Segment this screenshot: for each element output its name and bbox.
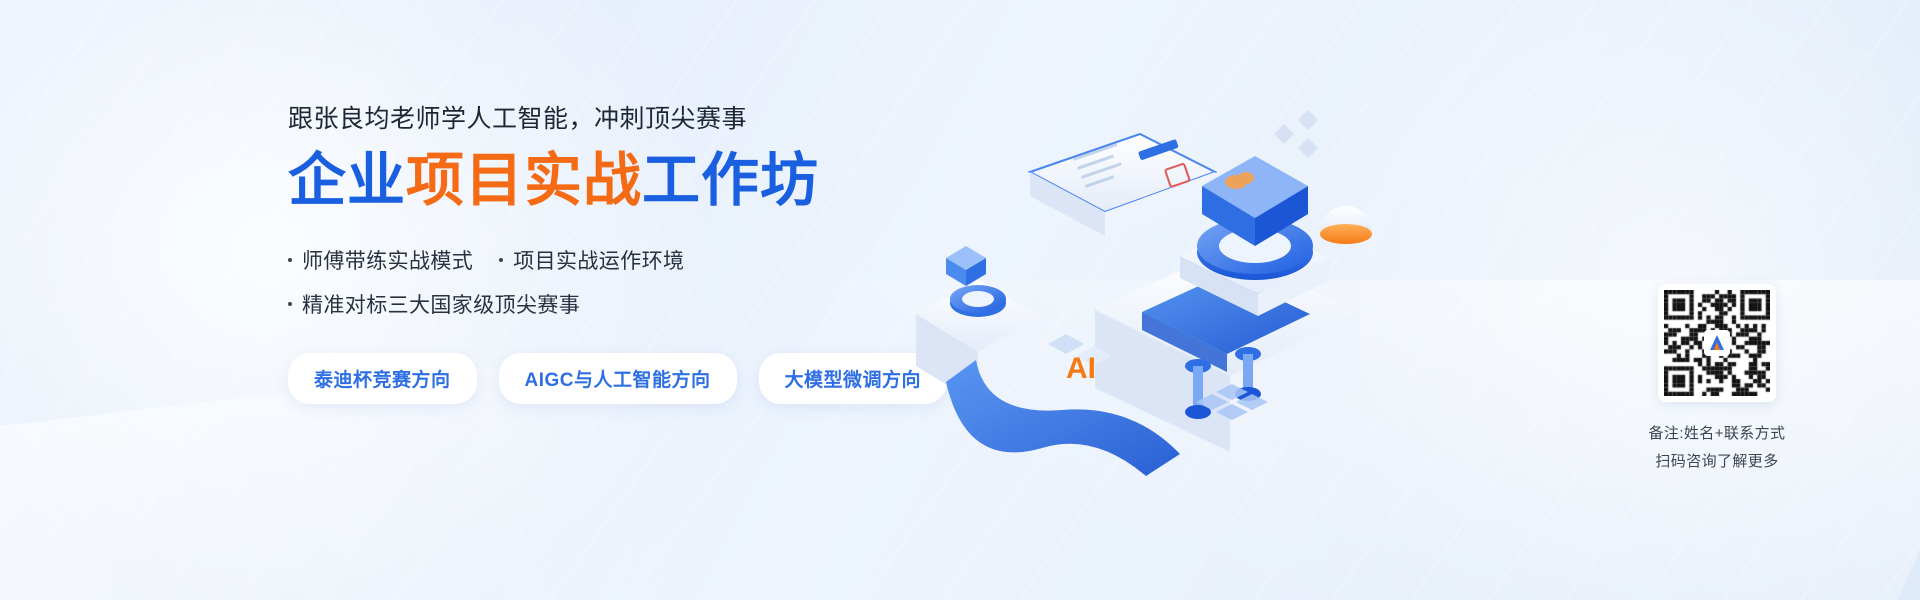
bullet-label: 师傅带练实战模式 (302, 245, 473, 275)
direction-pill-group: 泰迪杯竞赛方向 AIGC与人工智能方向 大模型微调方向 (288, 353, 928, 404)
qr-card[interactable] (1658, 284, 1776, 402)
isometric-illustration: AI (880, 60, 1480, 520)
certificate-document (1030, 134, 1215, 236)
bullet-row-1: 师傅带练实战模式 项目实战运作环境 (288, 245, 928, 275)
bullet-label: 项目实战运作环境 (513, 245, 684, 275)
bullet-item: 师傅带练实战模式 (288, 245, 473, 275)
promo-banner: 跟张良均老师学人工智能，冲刺顶尖赛事 企业项目实战工作坊 师傅带练实战模式 项目… (0, 0, 1920, 600)
headline-part-2: 项目实战 (406, 148, 642, 213)
qr-block: 备注:姓名+联系方式 扫码咨询了解更多 (1622, 284, 1812, 476)
sphere-dome (1320, 206, 1372, 244)
eyebrow-text: 跟张良均老师学人工智能，冲刺顶尖赛事 (288, 104, 928, 134)
bullet-item: 项目实战运作环境 (499, 245, 684, 275)
headline-part-3: 工作坊 (642, 148, 819, 213)
bullet-item: 精准对标三大国家级顶尖赛事 (288, 289, 580, 319)
pill-taidi-competition[interactable]: 泰迪杯竞赛方向 (288, 353, 477, 404)
headline: 企业项目实战工作坊 (288, 150, 928, 213)
qr-caption-line-2: 扫码咨询了解更多 (1622, 448, 1812, 476)
qr-caption-line-1: 备注:姓名+联系方式 (1622, 420, 1812, 448)
bullet-dot-icon (499, 258, 503, 262)
bullet-dot-icon (288, 302, 292, 306)
qr-caption: 备注:姓名+联系方式 扫码咨询了解更多 (1622, 420, 1812, 476)
sparkle-icon (1274, 110, 1318, 158)
bullet-row-2: 精准对标三大国家级顶尖赛事 (288, 289, 928, 319)
pill-aigc-ai[interactable]: AIGC与人工智能方向 (499, 353, 737, 404)
copy-column: 跟张良均老师学人工智能，冲刺顶尖赛事 企业项目实战工作坊 师傅带练实战模式 项目… (288, 104, 928, 404)
bullet-list: 师傅带练实战模式 项目实战运作环境 精准对标三大国家级顶尖赛事 (288, 245, 928, 319)
bullet-label: 精准对标三大国家级顶尖赛事 (302, 289, 580, 319)
bullet-dot-icon (288, 258, 292, 262)
ai-label: AI (1066, 352, 1096, 385)
headline-part-1: 企业 (288, 148, 406, 213)
taidi-logo-icon (1704, 330, 1730, 356)
